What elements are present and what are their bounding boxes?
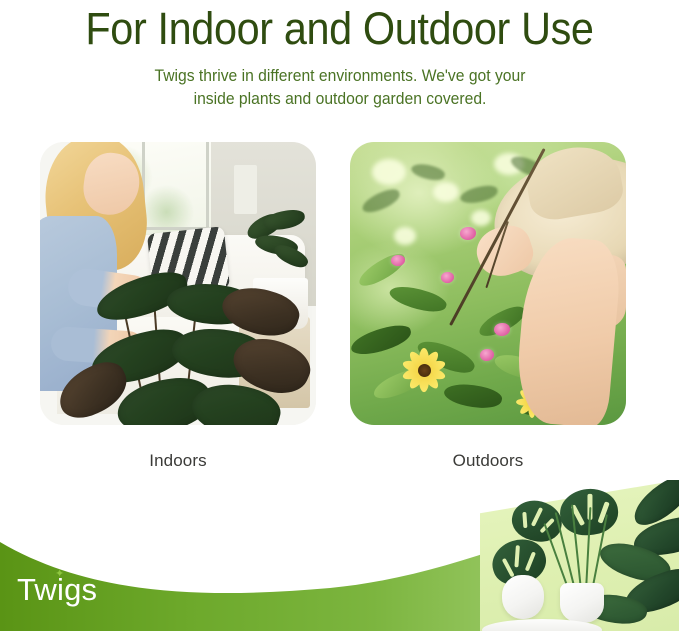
page-title: For Indoor and Outdoor Use (27, 2, 652, 56)
pink-flower (391, 255, 405, 266)
header-block: For Indoor and Outdoor Use Twigs thrive … (0, 0, 679, 111)
caption-outdoors: Outdoors (350, 451, 626, 471)
white-pot-left (502, 575, 544, 619)
white-pot-right (560, 583, 604, 623)
leaf-accent-icon: ✦ (55, 570, 64, 579)
outdoor-photo (350, 142, 626, 425)
photo-card-outdoors (350, 142, 626, 425)
background-plant (239, 210, 311, 284)
garden-illustration (350, 142, 626, 425)
pink-flower (460, 227, 476, 240)
sunflower-large (394, 340, 454, 400)
footer-banner: Twigs ✦ (0, 480, 679, 631)
plant-decoration-panel (480, 480, 679, 631)
caption-indoors: Indoors (40, 451, 316, 471)
pink-flower (480, 349, 494, 361)
indoor-photo (40, 142, 316, 425)
pink-flower (441, 272, 454, 283)
indoor-living-room-illustration (40, 142, 316, 425)
product-feature-banner: For Indoor and Outdoor Use Twigs thrive … (0, 0, 679, 631)
photo-card-indoors (40, 142, 316, 425)
page-subtitle: Twigs thrive in different environments. … (135, 65, 544, 111)
pink-flower (494, 323, 510, 336)
